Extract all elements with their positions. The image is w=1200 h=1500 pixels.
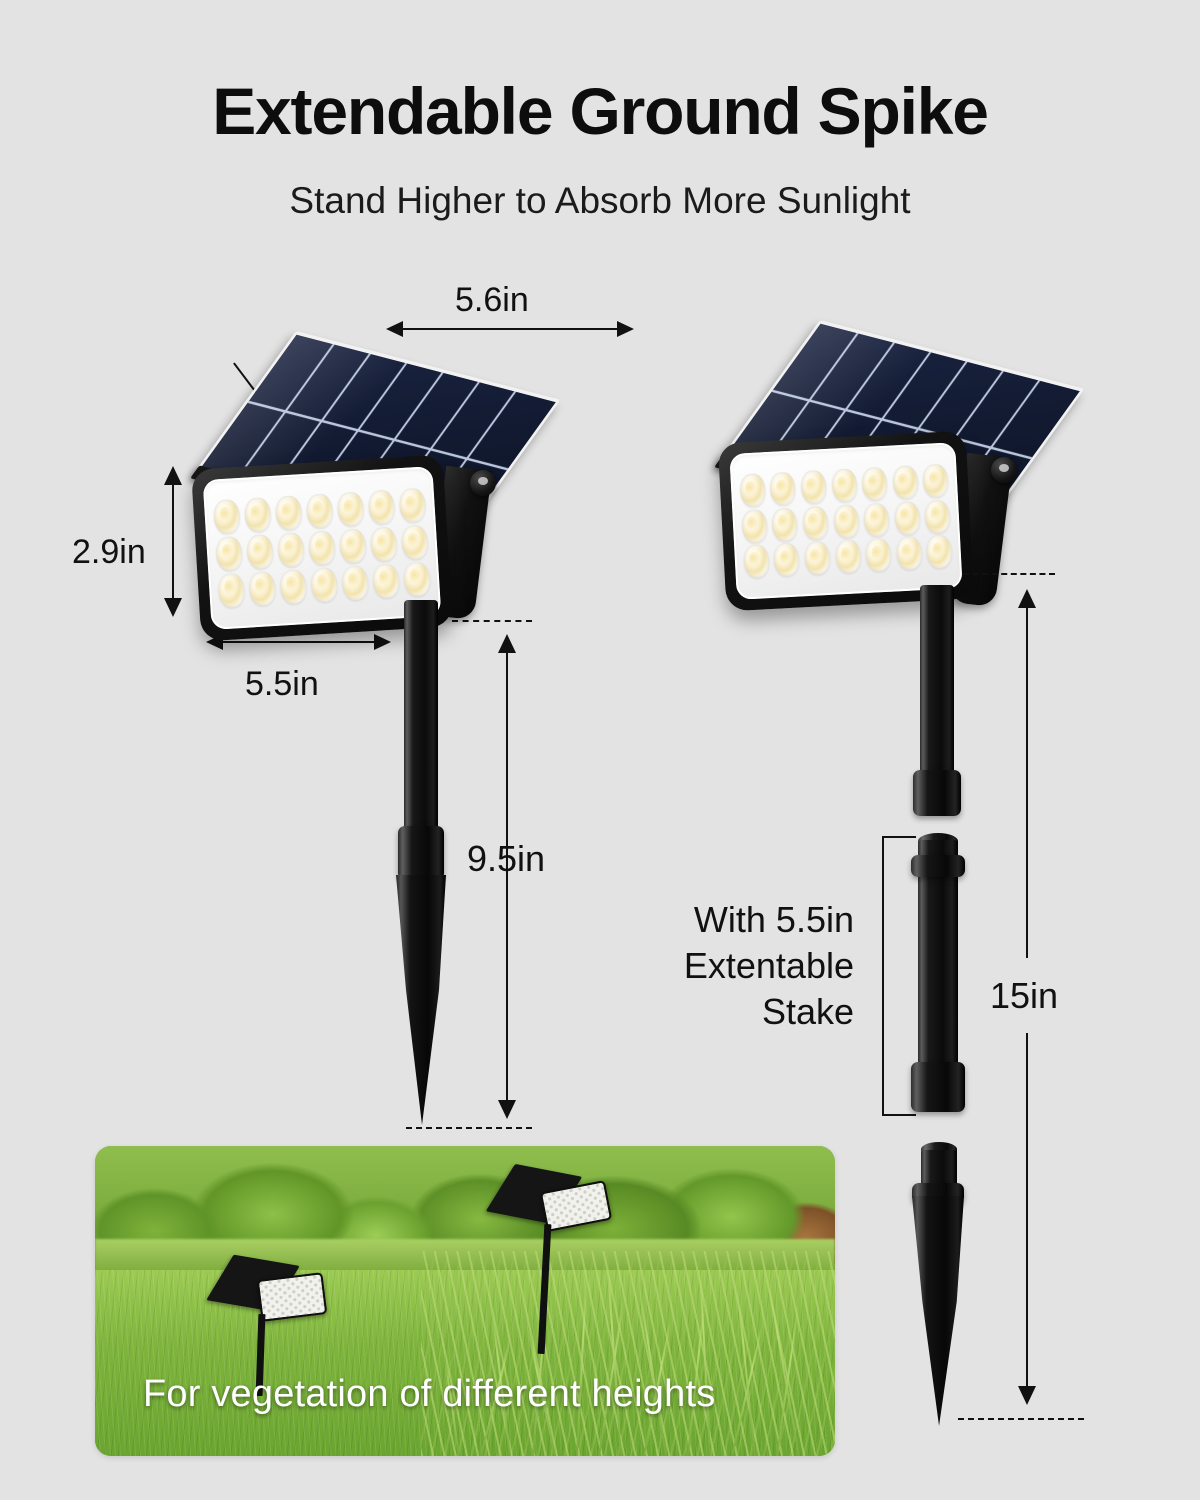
dimension-line-head-height — [172, 480, 174, 602]
led-lens — [403, 561, 431, 597]
led-lens — [741, 509, 768, 543]
led-lens — [306, 494, 334, 530]
led-lens — [213, 499, 241, 535]
led-lens — [743, 544, 770, 578]
arrowhead-right-head-width — [374, 634, 391, 650]
photo-light-short-led-head — [257, 1272, 328, 1322]
extension-tube-base-collar-right — [911, 1062, 965, 1112]
pole-upper-right — [920, 585, 954, 785]
led-lens — [861, 467, 888, 501]
led-lens — [831, 468, 858, 502]
led-lens — [924, 499, 951, 533]
arrowhead-down-head-height — [164, 598, 182, 617]
led-lens — [802, 505, 829, 539]
photo-caption: For vegetation of different heights — [143, 1373, 715, 1416]
led-lens — [277, 532, 305, 568]
photo-light-tall-lens-plate — [542, 1182, 610, 1229]
led-lens — [770, 472, 797, 506]
led-lens — [279, 569, 307, 605]
pole-collar-upper-right — [913, 770, 961, 816]
reference-line-top-total-height-right — [963, 573, 1055, 575]
led-lens — [372, 563, 400, 599]
dimension-label-panel-width: 5.6in — [455, 281, 529, 320]
dimension-line-upper-total-height-right — [1026, 603, 1028, 958]
led-lens — [773, 542, 800, 576]
hinge-pin-right — [999, 464, 1009, 472]
led-lens — [923, 464, 950, 498]
dimension-line-panel-width — [400, 328, 620, 330]
ground-spike-left — [396, 875, 446, 1125]
page-title: Extendable Ground Spike — [0, 78, 1200, 144]
led-lens — [244, 498, 272, 534]
dimension-label-head-width: 5.5in — [245, 665, 319, 704]
led-lens — [800, 470, 827, 504]
led-lens — [863, 502, 890, 536]
led-lens — [894, 501, 921, 535]
dimension-label-total-height-right: 15in — [990, 975, 1058, 1017]
led-lens — [892, 465, 919, 499]
led-lens — [339, 528, 367, 564]
led-lens — [341, 565, 369, 601]
led-lens — [896, 536, 923, 570]
led-lens — [804, 541, 831, 575]
led-lens — [835, 539, 862, 573]
photo-light-short-lens-plate — [259, 1274, 325, 1319]
lifestyle-photo: For vegetation of different heights — [95, 1146, 835, 1456]
pole-left — [404, 600, 438, 840]
arrowhead-down-total-height-left — [498, 1100, 516, 1119]
photo-light-tall — [495, 1162, 635, 1392]
led-lens — [275, 496, 303, 532]
dimension-line-lower-total-height-right — [1026, 1033, 1028, 1388]
page-subtitle: Stand Higher to Absorb More Sunlight — [0, 182, 1200, 219]
led-lens — [833, 504, 860, 538]
dimension-line-head-width — [220, 641, 376, 643]
arrowhead-down-total-height-right — [1018, 1386, 1036, 1405]
extension-tube-collar-right — [911, 855, 965, 877]
infographic-canvas: Extendable Ground Spike Stand Higher to … — [0, 0, 1200, 1500]
led-lens — [310, 567, 338, 603]
led-lens — [308, 530, 336, 566]
led-lens — [248, 570, 276, 606]
photo-light-tall-pole — [538, 1224, 552, 1354]
led-lens — [401, 525, 429, 561]
hinge-knob-left — [470, 470, 496, 496]
led-lens — [370, 526, 398, 562]
extension-bracket — [882, 836, 916, 1116]
lens-plate-right — [729, 442, 962, 600]
led-lens — [739, 473, 766, 507]
led-lens — [368, 490, 396, 526]
hinge-pin-left — [478, 477, 488, 485]
led-lens — [337, 492, 365, 528]
hinge-knob-right — [991, 457, 1017, 483]
arrowhead-right-panel-width — [617, 321, 634, 337]
led-lens — [217, 572, 245, 608]
reference-line-bottom-total-height-left — [406, 1127, 532, 1129]
led-lens — [772, 507, 799, 541]
led-lens — [926, 534, 953, 568]
led-lens — [399, 488, 427, 524]
ground-spike-right — [912, 1196, 964, 1426]
dimension-label-total-height-left: 9.5in — [467, 838, 545, 880]
dimension-label-head-height: 2.9in — [72, 533, 146, 572]
reference-line-bottom-total-height-right — [958, 1418, 1084, 1420]
led-lens — [865, 538, 892, 572]
led-lens — [215, 536, 243, 572]
led-lens — [246, 534, 274, 570]
pole-collar-left — [398, 826, 444, 880]
extension-note: With 5.5in Extentable Stake — [614, 897, 854, 1035]
reference-line-top-total-height-left — [452, 620, 532, 622]
